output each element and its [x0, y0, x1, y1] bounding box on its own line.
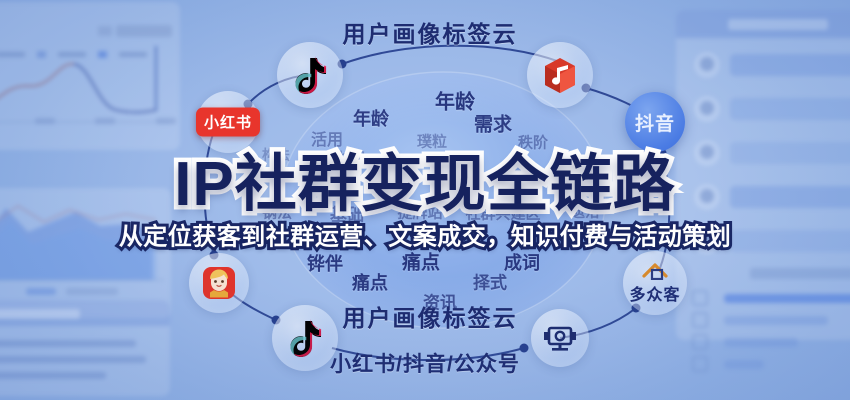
platform-tag-line: 小红书/抖音/公众号 [330, 348, 520, 378]
tag-word: 痛点 [352, 269, 388, 295]
page-title: IP社群变现全链路 [174, 133, 676, 223]
monitor-camera-icon [543, 324, 577, 352]
tag-word: 年龄 [353, 105, 389, 131]
node-girl-avatar[interactable] [189, 253, 249, 313]
caption-top: 用户画像标签云 [343, 15, 518, 49]
tiktok-note-icon [293, 56, 327, 94]
caption-top-text: 用户画像标签云 [343, 21, 518, 47]
node-douyin-label: 抖音 [635, 109, 675, 136]
music-cube-icon [539, 54, 581, 96]
xiaohongshu-badge-label: 小红书 [204, 115, 252, 132]
tag-word: 年龄 [435, 86, 475, 115]
home-arrow-icon [641, 262, 669, 280]
tiktok-note-icon [288, 319, 322, 357]
tag-word: 成词 [504, 249, 540, 275]
node-music-cube[interactable] [527, 42, 593, 108]
node-tiktok-bottom[interactable] [272, 305, 338, 371]
tag-word: 择式 [473, 269, 507, 294]
tag-word: 痛点 [402, 248, 440, 275]
node-duozhongke[interactable]: 多众客 [623, 251, 687, 315]
caption-bottom: 用户画像标签云 [343, 299, 518, 333]
caption-bottom-text: 用户画像标签云 [343, 305, 518, 331]
node-duozhongke-label: 多众客 [629, 281, 680, 305]
node-tiktok-top[interactable] [277, 42, 343, 108]
girl-avatar-icon [202, 266, 236, 300]
node-monitor-camera[interactable] [531, 309, 589, 367]
tag-word: 铧伴 [307, 250, 343, 276]
page-subtitle: 从定位获客到社群运营、文案成交，知识付费与活动策划 [119, 217, 732, 252]
poster-canvas: 年龄年龄需求活用璞粒秩阶排局构法钢法基础提牌站社群共建区遗洽铧伴痛点成词痛点择式… [0, 0, 850, 400]
